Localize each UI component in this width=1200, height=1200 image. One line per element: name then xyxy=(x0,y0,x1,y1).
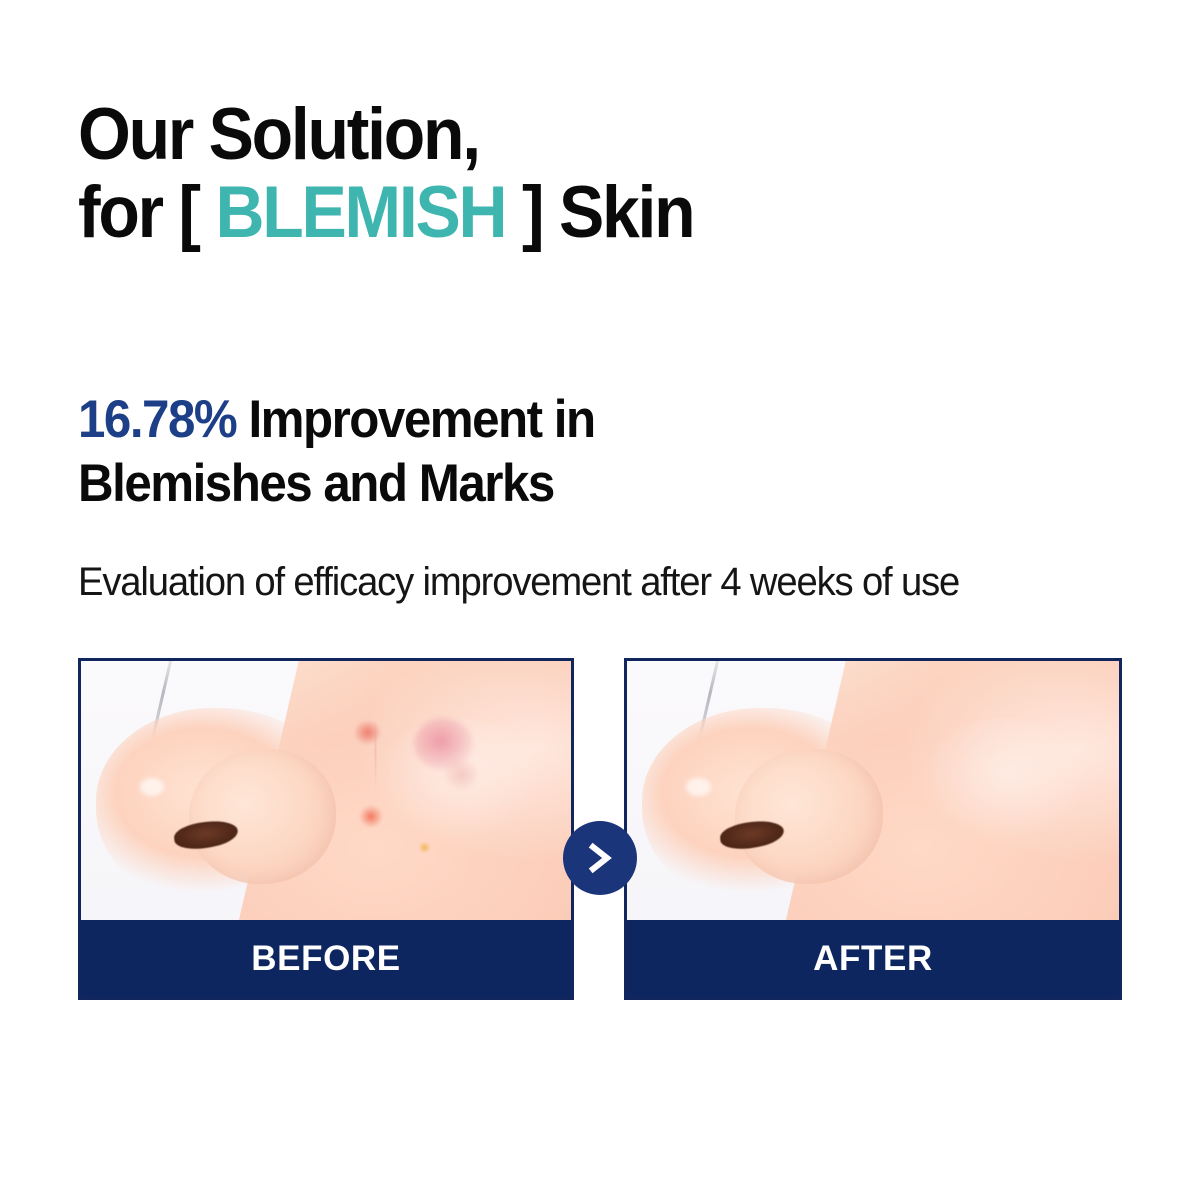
headline-suffix: ] Skin xyxy=(505,172,693,253)
blemish-red-lower xyxy=(360,806,382,827)
before-panel: BEFORE xyxy=(78,658,574,1000)
nose-wing xyxy=(735,749,883,884)
cheek-sheen xyxy=(922,718,1089,842)
stat-line-1: 16.78% Improvement in xyxy=(78,388,1064,452)
marketing-panel: Our Solution, for [ BLEMISH ] Skin 16.78… xyxy=(0,0,1200,1200)
headline-accent-word: BLEMISH xyxy=(215,172,505,253)
subtitle-text: Evaluation of efficacy improvement after… xyxy=(78,557,1119,607)
blemish-red-upper xyxy=(355,721,380,744)
before-after-comparison: BEFORE AFTER xyxy=(78,658,1122,1000)
after-photo xyxy=(627,661,1119,920)
blemish-yellow-spot xyxy=(419,842,430,852)
headline-line-2: for [ BLEMISH ] Skin xyxy=(78,174,1055,252)
page-title: Our Solution, for [ BLEMISH ] Skin xyxy=(78,96,1055,252)
nose-highlight xyxy=(140,778,165,796)
chevron-right-icon xyxy=(563,821,637,895)
nose-highlight xyxy=(686,778,711,796)
stat-line-2: Blemishes and Marks xyxy=(78,452,1064,516)
stat-line-1-rest: Improvement in xyxy=(236,390,594,449)
nose-wing xyxy=(189,749,336,884)
headline-line-1: Our Solution, xyxy=(78,96,1055,174)
stat-heading: 16.78% Improvement in Blemishes and Mark… xyxy=(78,388,1064,516)
after-panel: AFTER xyxy=(624,658,1122,1000)
stat-percent-value: 16.78% xyxy=(78,390,236,449)
headline-prefix: for [ xyxy=(78,172,215,253)
after-label: AFTER xyxy=(627,920,1119,997)
before-label: BEFORE xyxy=(81,920,571,997)
before-photo xyxy=(81,661,571,920)
